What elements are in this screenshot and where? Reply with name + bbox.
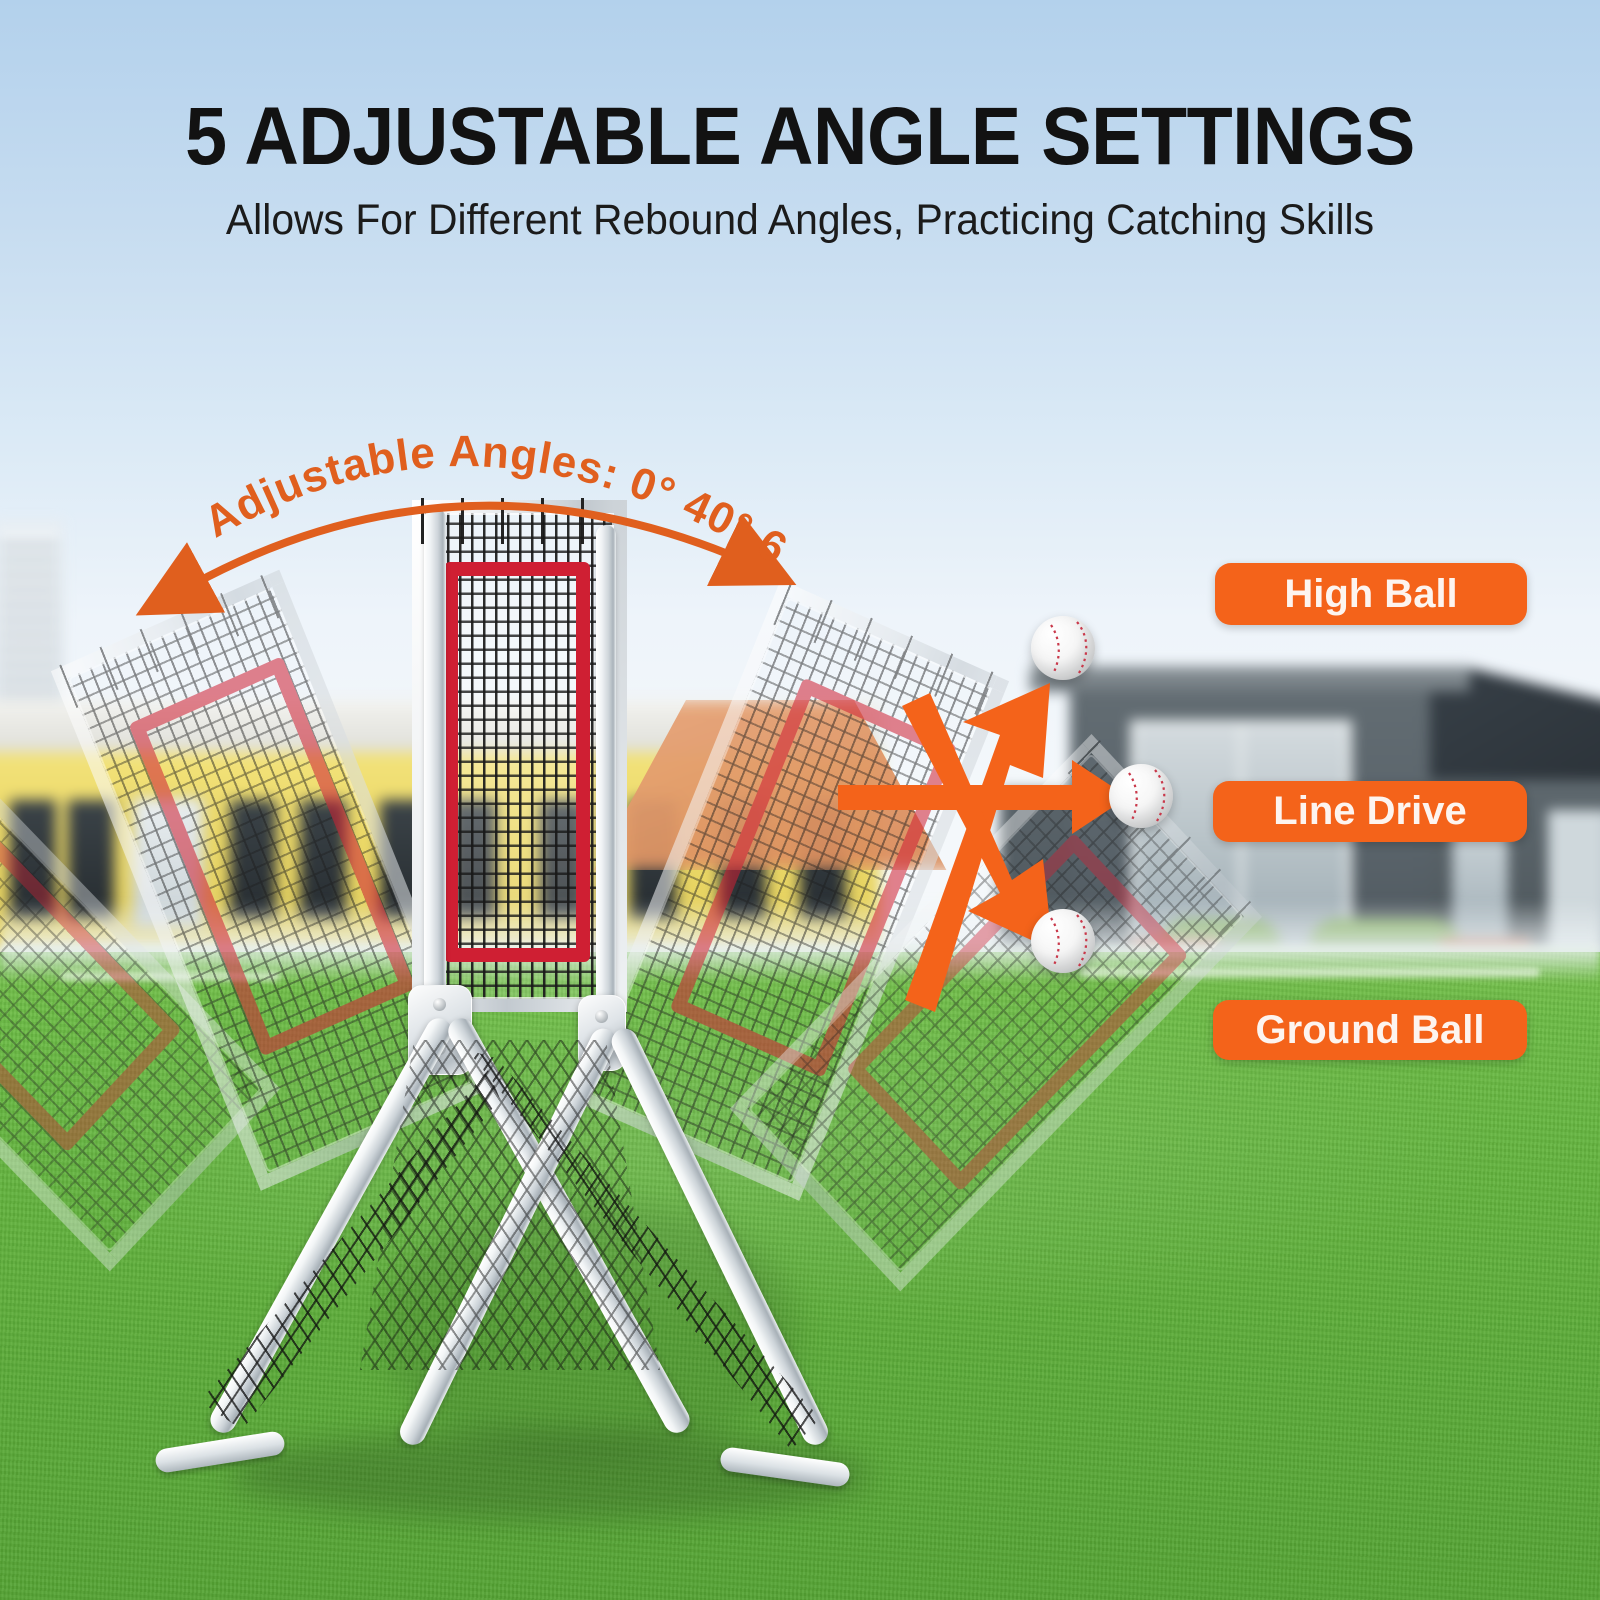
baseball-ground <box>1031 909 1095 973</box>
badge-label: Ground Ball <box>1256 1008 1485 1053</box>
badge-ground-ball: Ground Ball <box>1213 1000 1527 1060</box>
product-marketing-image: 5 ADJUSTABLE ANGLE SETTINGS Allows For D… <box>0 0 1600 1600</box>
badge-label: High Ball <box>1284 572 1457 617</box>
baseball-seam-icon <box>1109 764 1173 828</box>
badge-high-ball: High Ball <box>1215 563 1527 625</box>
baseball-seam-icon <box>1031 616 1095 680</box>
badge-label: Line Drive <box>1273 789 1466 834</box>
badge-line-drive: Line Drive <box>1213 781 1527 842</box>
baseball-line-drive <box>1109 764 1173 828</box>
baseball-seam-icon <box>1031 909 1095 973</box>
baseball-high <box>1031 616 1095 680</box>
